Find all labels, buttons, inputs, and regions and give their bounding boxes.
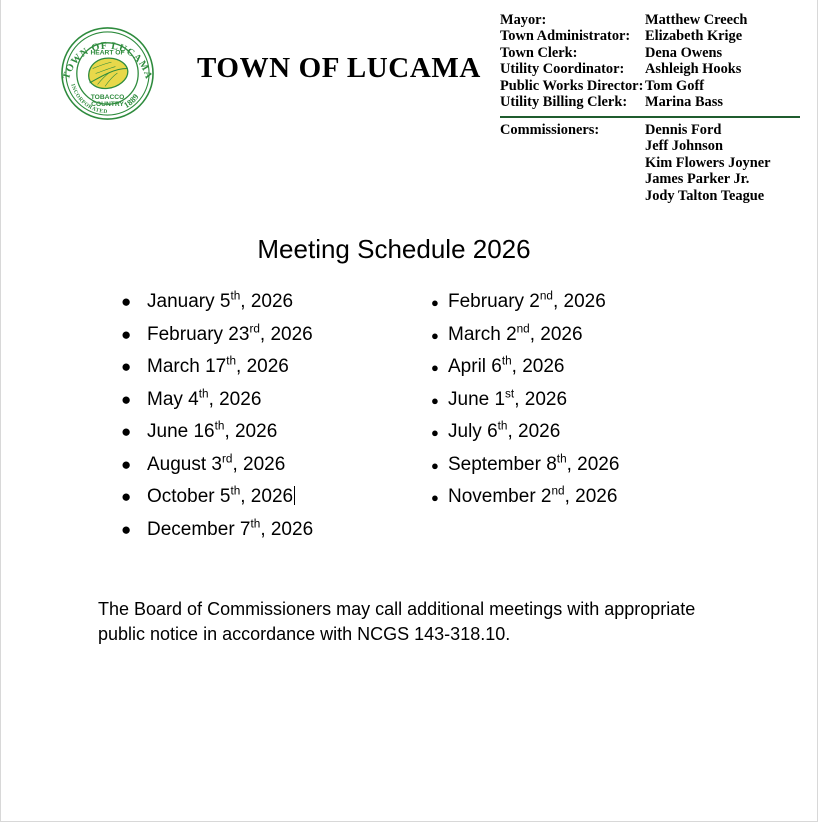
bullet-icon: ●: [121, 521, 147, 538]
bullet-icon: ●: [431, 426, 448, 439]
official-label: Utility Billing Clerk:: [500, 94, 645, 110]
document-page: TOWN OF LUCAMA INCORPORATED 1889 HEART O…: [0, 0, 818, 822]
official-label: Public Works Director:: [500, 78, 645, 94]
ordinal-suffix: th: [502, 355, 512, 368]
bullet-icon: ●: [431, 361, 448, 374]
bullet-icon: ●: [121, 423, 147, 440]
official-value: Tom Goff: [645, 78, 800, 94]
meeting-date-text: June 1st, 2026: [448, 389, 567, 411]
commissioner-name: Jody Talton Teague: [645, 188, 800, 204]
bullet-icon: ●: [121, 358, 147, 375]
ordinal-suffix: nd: [552, 485, 565, 498]
meeting-date-text: February 23rd, 2026: [147, 324, 313, 346]
officials-list: Mayor: Matthew Creech Town Administrator…: [500, 12, 800, 110]
seal-tobacco-text: TOBACCO: [91, 94, 125, 101]
seal-icon: TOWN OF LUCAMA INCORPORATED 1889 HEART O…: [58, 22, 157, 125]
meeting-date-text: September 8th, 2026: [448, 454, 619, 476]
meeting-date-item: ●March 2nd, 2026: [431, 324, 731, 357]
commissioner-name: James Parker Jr.: [645, 171, 800, 187]
meeting-date-item: ●March 17th, 2026: [121, 356, 421, 389]
official-value: Matthew Creech: [645, 12, 800, 28]
official-row: Town Clerk: Dena Owens: [500, 45, 800, 61]
bullet-icon: ●: [431, 459, 448, 472]
seal-country-text: COUNTRY: [91, 101, 124, 108]
document-header: TOWN OF LUCAMA INCORPORATED 1889 HEART O…: [1, 0, 818, 215]
ordinal-suffix: th: [199, 387, 209, 400]
ordinal-suffix: th: [230, 290, 240, 303]
commissioner-name: Dennis Ford: [645, 122, 800, 138]
ordinal-suffix: rd: [249, 322, 259, 335]
meeting-date-item: ●January 5th, 2026: [121, 291, 421, 324]
meeting-date-item: ●August 3rd, 2026: [121, 454, 421, 487]
commissioner-name: Kim Flowers Joyner: [645, 155, 800, 171]
official-value: Dena Owens: [645, 45, 800, 61]
meeting-date-text: February 2nd, 2026: [448, 291, 606, 313]
official-value: Elizabeth Krige: [645, 28, 800, 44]
meeting-date-item: ●February 23rd, 2026: [121, 324, 421, 357]
text-cursor: [294, 486, 295, 505]
official-row: Town Administrator: Elizabeth Krige: [500, 28, 800, 44]
official-value: Ashleigh Hooks: [645, 61, 800, 77]
official-row: Mayor: Matthew Creech: [500, 12, 800, 28]
official-label: Utility Coordinator:: [500, 61, 645, 77]
official-label: Town Administrator:: [500, 28, 645, 44]
ordinal-suffix: th: [251, 517, 261, 530]
bullet-icon: ●: [431, 394, 448, 407]
meeting-date-item: ●February 2nd, 2026: [431, 291, 731, 324]
commissioners-block: Commissioners: Dennis Ford Jeff Johnson …: [500, 122, 800, 204]
meeting-date-text: December 7th, 2026: [147, 519, 313, 541]
ordinal-suffix: th: [215, 420, 225, 433]
meeting-date-text: March 2nd, 2026: [448, 324, 583, 346]
meeting-date-item: ●November 2nd, 2026: [431, 486, 731, 519]
meeting-date-text: April 6th, 2026: [448, 356, 565, 378]
schedule-heading: Meeting Schedule 2026: [1, 234, 787, 265]
bullet-icon: ●: [121, 488, 147, 505]
ordinal-suffix: th: [557, 452, 567, 465]
ordinal-suffix: th: [498, 420, 508, 433]
meeting-date-item: ●April 6th, 2026: [431, 356, 731, 389]
town-title: TOWN OF LUCAMA: [197, 52, 487, 85]
meeting-date-text: May 4th, 2026: [147, 389, 261, 411]
official-row: Utility Billing Clerk: Marina Bass: [500, 94, 800, 110]
footer-note: The Board of Commissioners may call addi…: [98, 597, 730, 647]
bullet-icon: ●: [121, 293, 147, 310]
official-label: Town Clerk:: [500, 45, 645, 61]
meeting-date-text: August 3rd, 2026: [147, 454, 285, 476]
commissioners-label: Commissioners:: [500, 122, 645, 204]
commissioner-name: Jeff Johnson: [645, 138, 800, 154]
meeting-date-item: ●October 5th, 2026: [121, 486, 421, 519]
meeting-date-item: ●September 8th, 2026: [431, 454, 731, 487]
ordinal-suffix: th: [226, 355, 236, 368]
meeting-date-item: ●July 6th, 2026: [431, 421, 731, 454]
bullet-icon: ●: [121, 326, 147, 343]
official-value: Marina Bass: [645, 94, 800, 110]
meeting-date-text: June 16th, 2026: [147, 421, 277, 443]
official-row: Utility Coordinator: Ashleigh Hooks: [500, 61, 800, 77]
ordinal-suffix: rd: [222, 452, 232, 465]
bullet-icon: ●: [431, 329, 448, 342]
meeting-date-item: ●June 16th, 2026: [121, 421, 421, 454]
bullet-icon: ●: [431, 491, 448, 504]
meeting-dates-left-column: ●January 5th, 2026●February 23rd, 2026●M…: [121, 291, 421, 551]
official-row: Public Works Director: Tom Goff: [500, 78, 800, 94]
meeting-date-text: November 2nd, 2026: [448, 486, 617, 508]
bullet-icon: ●: [121, 456, 147, 473]
town-seal-logo: TOWN OF LUCAMA INCORPORATED 1889 HEART O…: [58, 22, 157, 125]
ordinal-suffix: st: [505, 387, 514, 400]
meeting-dates-right-column: ●February 2nd, 2026●March 2nd, 2026●Apri…: [431, 291, 731, 519]
ordinal-suffix: nd: [540, 290, 553, 303]
meeting-date-text: March 17th, 2026: [147, 356, 289, 378]
meeting-date-text: July 6th, 2026: [448, 421, 560, 443]
meeting-date-item: ●December 7th, 2026: [121, 519, 421, 552]
bullet-icon: ●: [431, 296, 448, 309]
official-label: Mayor:: [500, 12, 645, 28]
meeting-date-text: October 5th, 2026: [147, 486, 295, 508]
meeting-date-item: ●June 1st, 2026: [431, 389, 731, 422]
ordinal-suffix: nd: [517, 322, 530, 335]
seal-heart-of-text: HEART OF: [90, 50, 124, 57]
meeting-date-item: ●May 4th, 2026: [121, 389, 421, 422]
ordinal-suffix: th: [230, 485, 240, 498]
officials-divider: [500, 116, 800, 118]
meeting-date-text: January 5th, 2026: [147, 291, 293, 313]
bullet-icon: ●: [121, 391, 147, 408]
commissioners-names: Dennis Ford Jeff Johnson Kim Flowers Joy…: [645, 122, 800, 204]
